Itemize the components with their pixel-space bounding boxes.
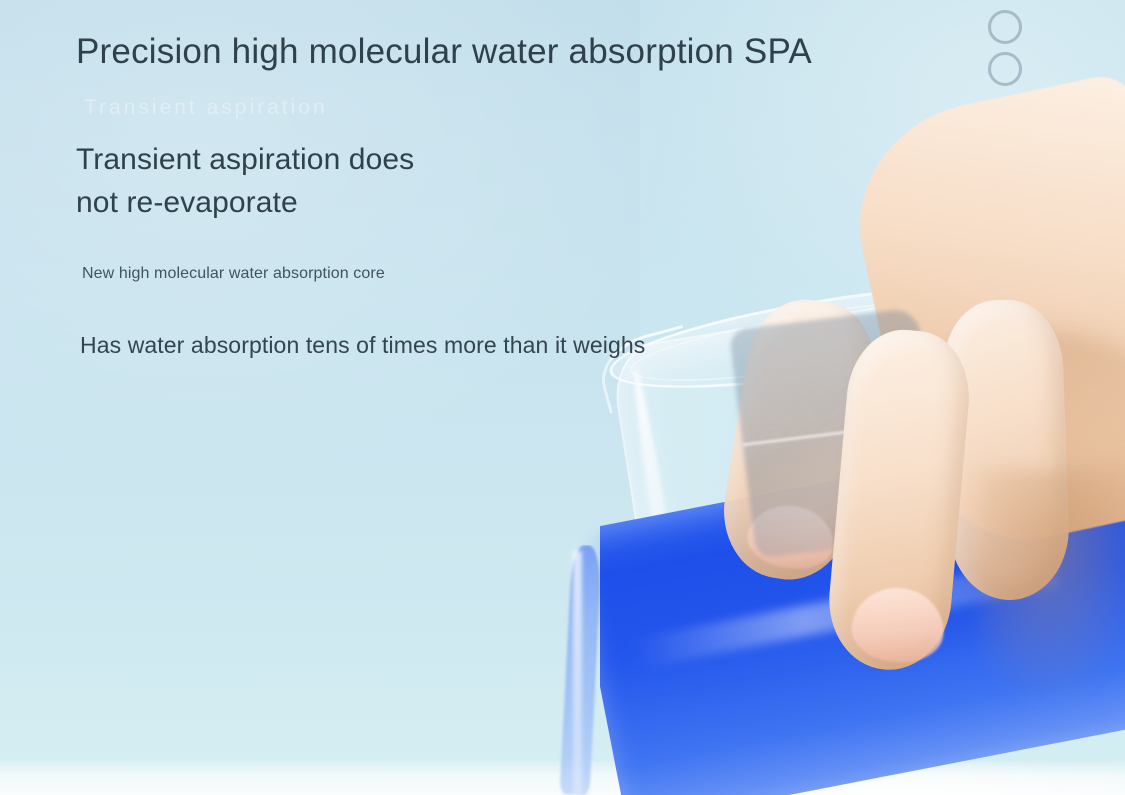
poster-caption-small: New high molecular water absorption core	[82, 265, 385, 283]
poster-subtitle-line-2: not re-evaporate	[76, 181, 414, 224]
text-layer: Precision high molecular water absorptio…	[0, 0, 1125, 795]
poster-title: Precision high molecular water absorptio…	[76, 32, 812, 72]
poster-subtitle-line-1: Transient aspiration does	[76, 138, 414, 181]
poster-subtitle: Transient aspiration does not re-evapora…	[76, 138, 414, 224]
promo-poster: Transient aspiration	[0, 0, 1125, 795]
poster-caption-large: Has water absorption tens of times more …	[80, 332, 645, 359]
